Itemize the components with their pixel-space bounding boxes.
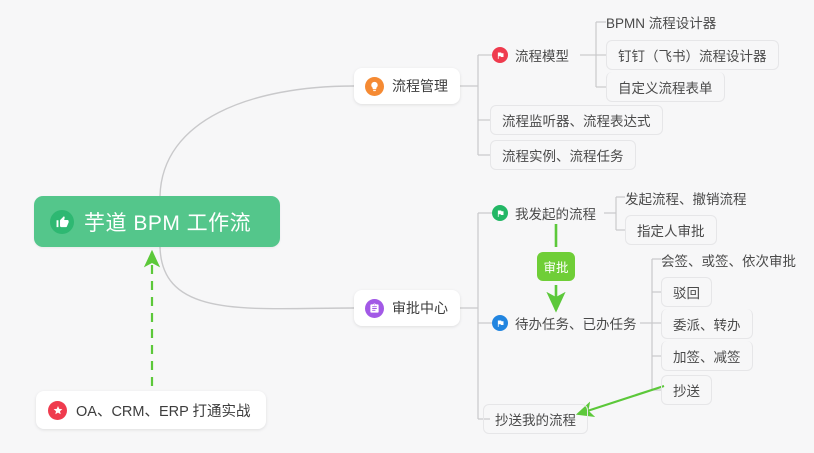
branch-node-approval-center[interactable]: 审批中心 bbox=[354, 290, 460, 326]
branch-label-process-management: 流程管理 bbox=[392, 76, 448, 96]
leaf-cc[interactable]: 抄送 bbox=[661, 375, 712, 405]
leaf-delegate-transfer[interactable]: 委派、转办 bbox=[661, 309, 753, 339]
clipboard-icon bbox=[365, 299, 384, 318]
star-icon bbox=[48, 401, 67, 420]
node-label-my-started-process: 我发起的流程 bbox=[515, 203, 596, 223]
arrow-cc-flow bbox=[578, 386, 664, 414]
leaf-process-listener[interactable]: 流程监听器、流程表达式 bbox=[490, 105, 663, 135]
lightbulb-icon bbox=[365, 77, 384, 96]
link-root-to-approval bbox=[160, 247, 354, 309]
callout-node[interactable]: OA、CRM、ERP 打通实战 bbox=[36, 391, 266, 429]
branch-label-approval-center: 审批中心 bbox=[392, 298, 448, 318]
branch-node-process-management[interactable]: 流程管理 bbox=[354, 68, 460, 104]
leaf-dingtalk-designer[interactable]: 钉钉（飞书）流程设计器 bbox=[606, 40, 779, 70]
leaf-bpmn-designer[interactable]: BPMN 流程设计器 bbox=[606, 9, 716, 35]
leaf-start-cancel-process[interactable]: 发起流程、撤销流程 bbox=[625, 185, 747, 211]
node-label-todo-done-tasks: 待办任务、已办任务 bbox=[515, 313, 637, 333]
flag-icon bbox=[492, 315, 508, 331]
flag-icon bbox=[492, 205, 508, 221]
leaf-add-remove-sign[interactable]: 加签、减签 bbox=[661, 341, 753, 371]
thumbs-up-icon bbox=[50, 210, 74, 234]
mindmap-canvas: 芋道 BPM 工作流 OA、CRM、ERP 打通实战 流程管理 审批中心 bbox=[0, 0, 814, 453]
node-process-model[interactable]: 流程模型 bbox=[492, 42, 569, 68]
node-todo-done-tasks[interactable]: 待办任务、已办任务 bbox=[492, 310, 637, 336]
leaf-assignee-approval[interactable]: 指定人审批 bbox=[625, 215, 717, 245]
node-label-process-model: 流程模型 bbox=[515, 45, 569, 65]
leaf-cc-my-process[interactable]: 抄送我的流程 bbox=[483, 404, 588, 434]
link-root-to-process bbox=[160, 86, 354, 196]
approval-tag-badge: 审批 bbox=[537, 252, 575, 281]
leaf-custom-form[interactable]: 自定义流程表单 bbox=[606, 72, 725, 102]
root-label: 芋道 BPM 工作流 bbox=[84, 207, 251, 237]
callout-label: OA、CRM、ERP 打通实战 bbox=[76, 400, 251, 421]
flag-icon bbox=[492, 47, 508, 63]
leaf-countersign[interactable]: 会签、或签、依次审批 bbox=[661, 247, 796, 273]
node-my-started-process[interactable]: 我发起的流程 bbox=[492, 200, 596, 226]
leaf-process-instance[interactable]: 流程实例、流程任务 bbox=[490, 140, 636, 170]
leaf-reject[interactable]: 驳回 bbox=[661, 277, 712, 307]
root-node[interactable]: 芋道 BPM 工作流 bbox=[34, 196, 280, 247]
